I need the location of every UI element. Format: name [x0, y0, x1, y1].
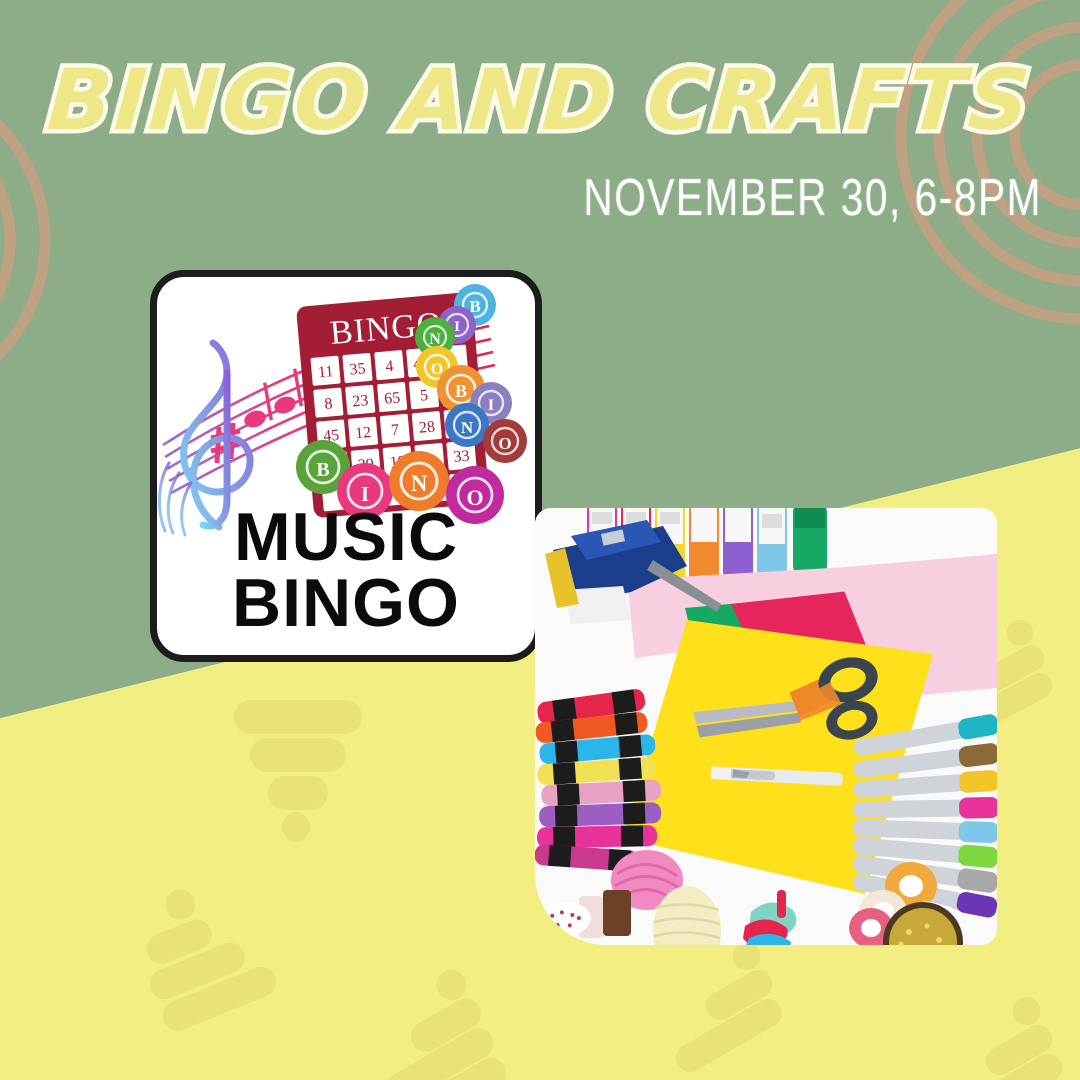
svg-text:7: 7 — [390, 422, 399, 440]
svg-text:11: 11 — [317, 363, 334, 381]
music-bingo-line2: BINGO — [157, 570, 535, 637]
svg-text:B: B — [316, 459, 329, 481]
event-datetime: NOVEMBER 30, 6-8PM — [583, 172, 1042, 224]
crafts-photo — [535, 508, 997, 945]
svg-text:65: 65 — [384, 389, 401, 407]
svg-text:I: I — [488, 397, 494, 414]
svg-text:N: N — [411, 471, 428, 496]
poster-canvas: BINGO AND CRAFTS NOVEMBER 30, 6-8PM — [0, 0, 1080, 1080]
page-title: BINGO AND CRAFTS — [0, 58, 1080, 142]
svg-text:12: 12 — [354, 424, 371, 442]
svg-text:35: 35 — [349, 360, 366, 378]
svg-text:23: 23 — [352, 392, 369, 410]
svg-text:I: I — [454, 319, 460, 335]
svg-text:N: N — [461, 418, 474, 437]
music-bingo-title: MUSIC BINGO — [157, 504, 535, 637]
svg-text:33: 33 — [453, 448, 470, 466]
svg-text:O: O — [498, 434, 511, 453]
svg-text:5: 5 — [419, 387, 428, 405]
svg-text:28: 28 — [418, 418, 435, 436]
music-bingo-artwork: BINGO — [157, 277, 535, 537]
svg-text:B: B — [455, 381, 467, 401]
music-bingo-card: BINGO — [150, 270, 542, 662]
music-bingo-line1: MUSIC — [157, 504, 535, 571]
svg-text:8: 8 — [324, 395, 333, 413]
svg-text:N: N — [429, 331, 441, 348]
svg-text:4: 4 — [385, 358, 394, 376]
